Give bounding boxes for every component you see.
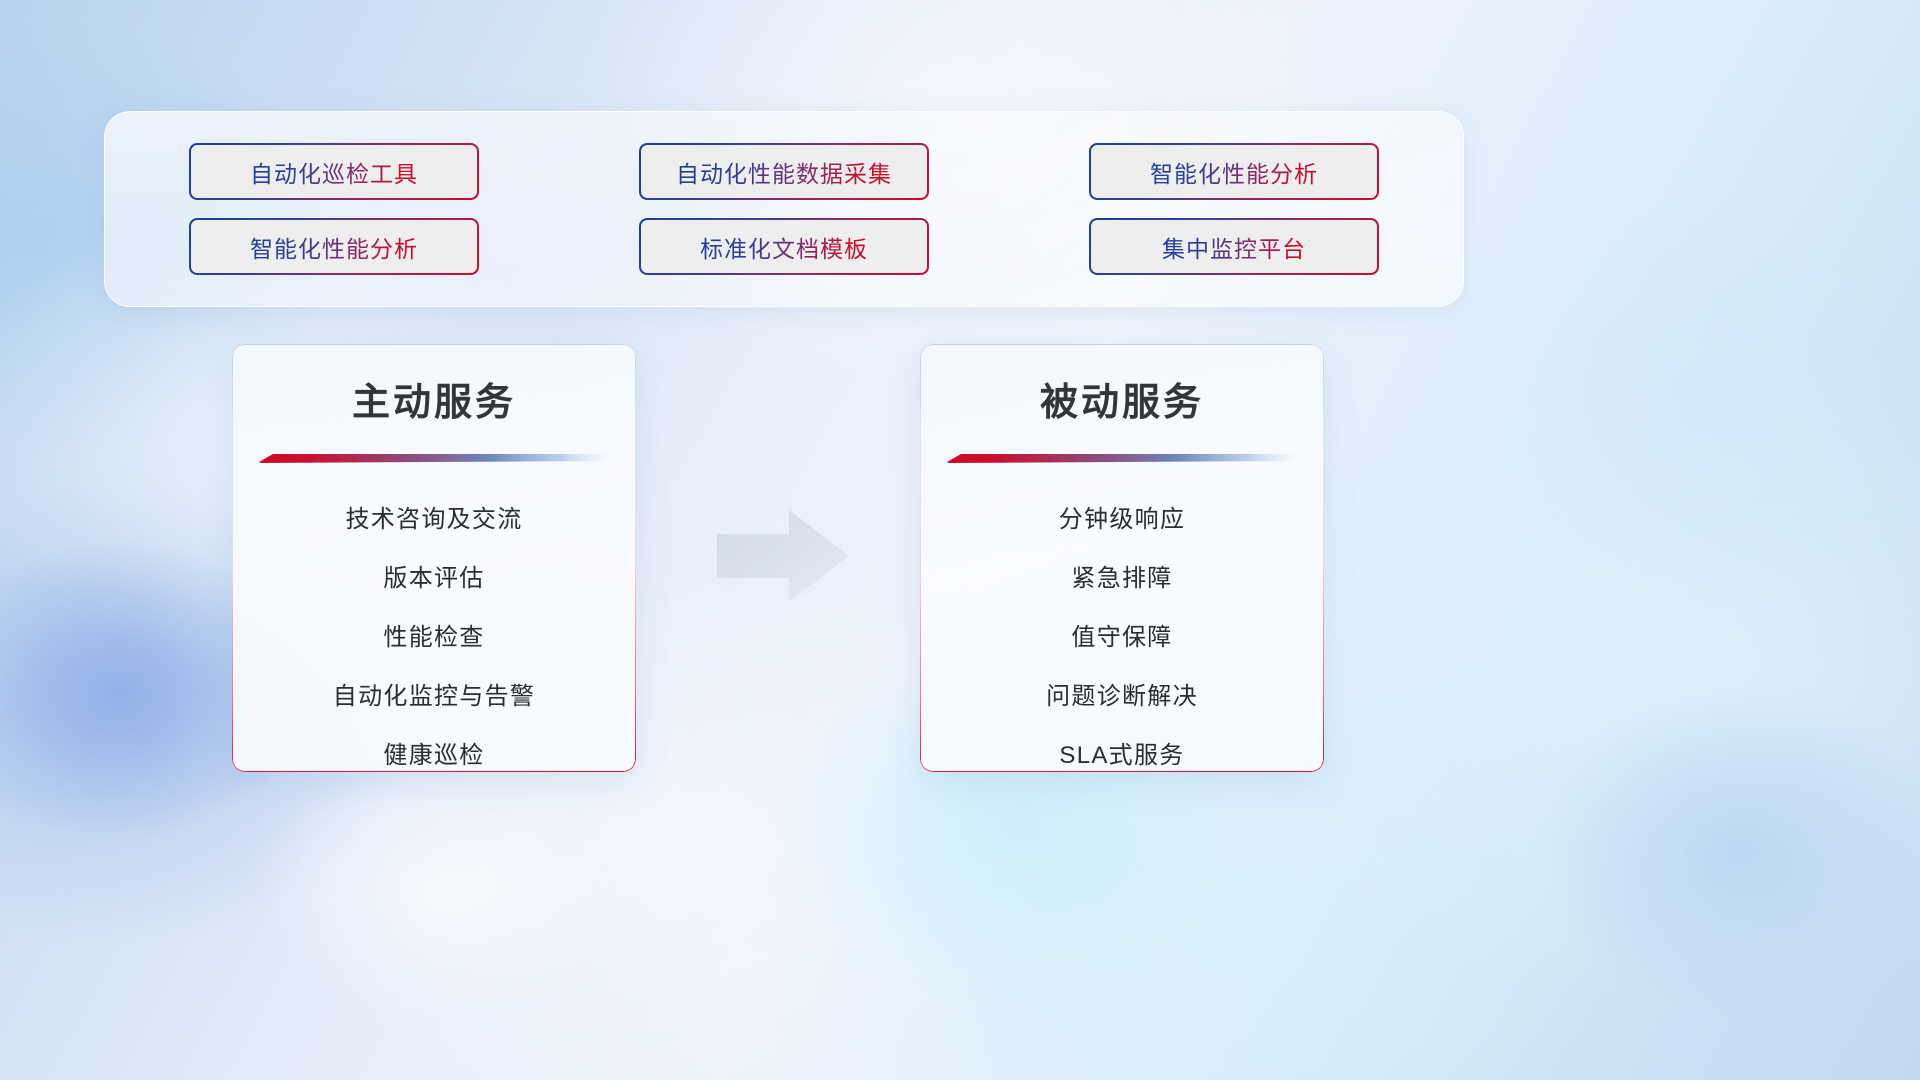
card-item[interactable]: 紧急排障 [920,549,1324,608]
divider-gradient-bar [947,452,1297,464]
right-arrow-icon [715,508,851,604]
card-divider [947,452,1297,464]
service-card-active: 主动服务 技术咨询及交流 版本评估 性能检查 [232,344,636,772]
tool-row-1: 自动化巡检工具 自动化性能数据采集 智能化性能分析 [189,143,1379,200]
divider-gradient-bar [259,452,609,464]
card-item[interactable]: 版本评估 [232,549,636,608]
card-item-list: 技术咨询及交流 版本评估 性能检查 自动化监控与告警 健康巡检 [232,490,636,772]
tool-pill-label: 集中监控平台 [1162,230,1306,264]
slide-canvas: 自动化巡检工具 自动化性能数据采集 智能化性能分析 智能化性能分析 标准化文档模… [0,0,1920,1080]
card-item[interactable]: 健康巡检 [232,726,636,772]
card-item[interactable]: 性能检查 [232,608,636,667]
tool-pill-performance-data-collection[interactable]: 自动化性能数据采集 [639,143,929,200]
card-item[interactable]: 技术咨询及交流 [232,490,636,549]
card-item[interactable]: 值守保障 [920,608,1324,667]
tool-pill-intelligent-performance-analysis[interactable]: 智能化性能分析 [1089,143,1379,200]
tool-pill-standard-doc-template[interactable]: 标准化文档模板 [639,218,929,275]
card-item[interactable]: 分钟级响应 [920,490,1324,549]
service-card-passive: 被动服务 分钟级响应 紧急排障 值守保障 [920,344,1324,772]
tool-pill-intelligent-performance-analysis-2[interactable]: 智能化性能分析 [189,218,479,275]
card-title: 被动服务 [920,371,1324,426]
tool-row-2: 智能化性能分析 标准化文档模板 集中监控平台 [189,218,1379,275]
background-blob-5 [1460,620,1920,1080]
background-blob-4 [1390,120,1920,680]
tool-pill-central-monitoring-platform[interactable]: 集中监控平台 [1089,218,1379,275]
card-item-list: 分钟级响应 紧急排障 值守保障 问题诊断解决 SLA式服务 [920,490,1324,772]
tool-panel: 自动化巡检工具 自动化性能数据采集 智能化性能分析 智能化性能分析 标准化文档模… [104,111,1464,307]
tool-pill-label: 自动化巡检工具 [250,155,418,189]
tool-pill-label: 智能化性能分析 [1150,155,1318,189]
tool-pill-label: 智能化性能分析 [250,230,418,264]
card-item[interactable]: SLA式服务 [920,726,1324,772]
card-item[interactable]: 问题诊断解决 [920,667,1324,726]
tool-pill-label: 自动化性能数据采集 [676,155,892,189]
card-item[interactable]: 自动化监控与告警 [232,667,636,726]
card-title: 主动服务 [232,371,636,426]
tool-pill-automation-inspection[interactable]: 自动化巡检工具 [189,143,479,200]
tool-pill-label: 标准化文档模板 [700,230,868,264]
card-divider [259,452,609,464]
